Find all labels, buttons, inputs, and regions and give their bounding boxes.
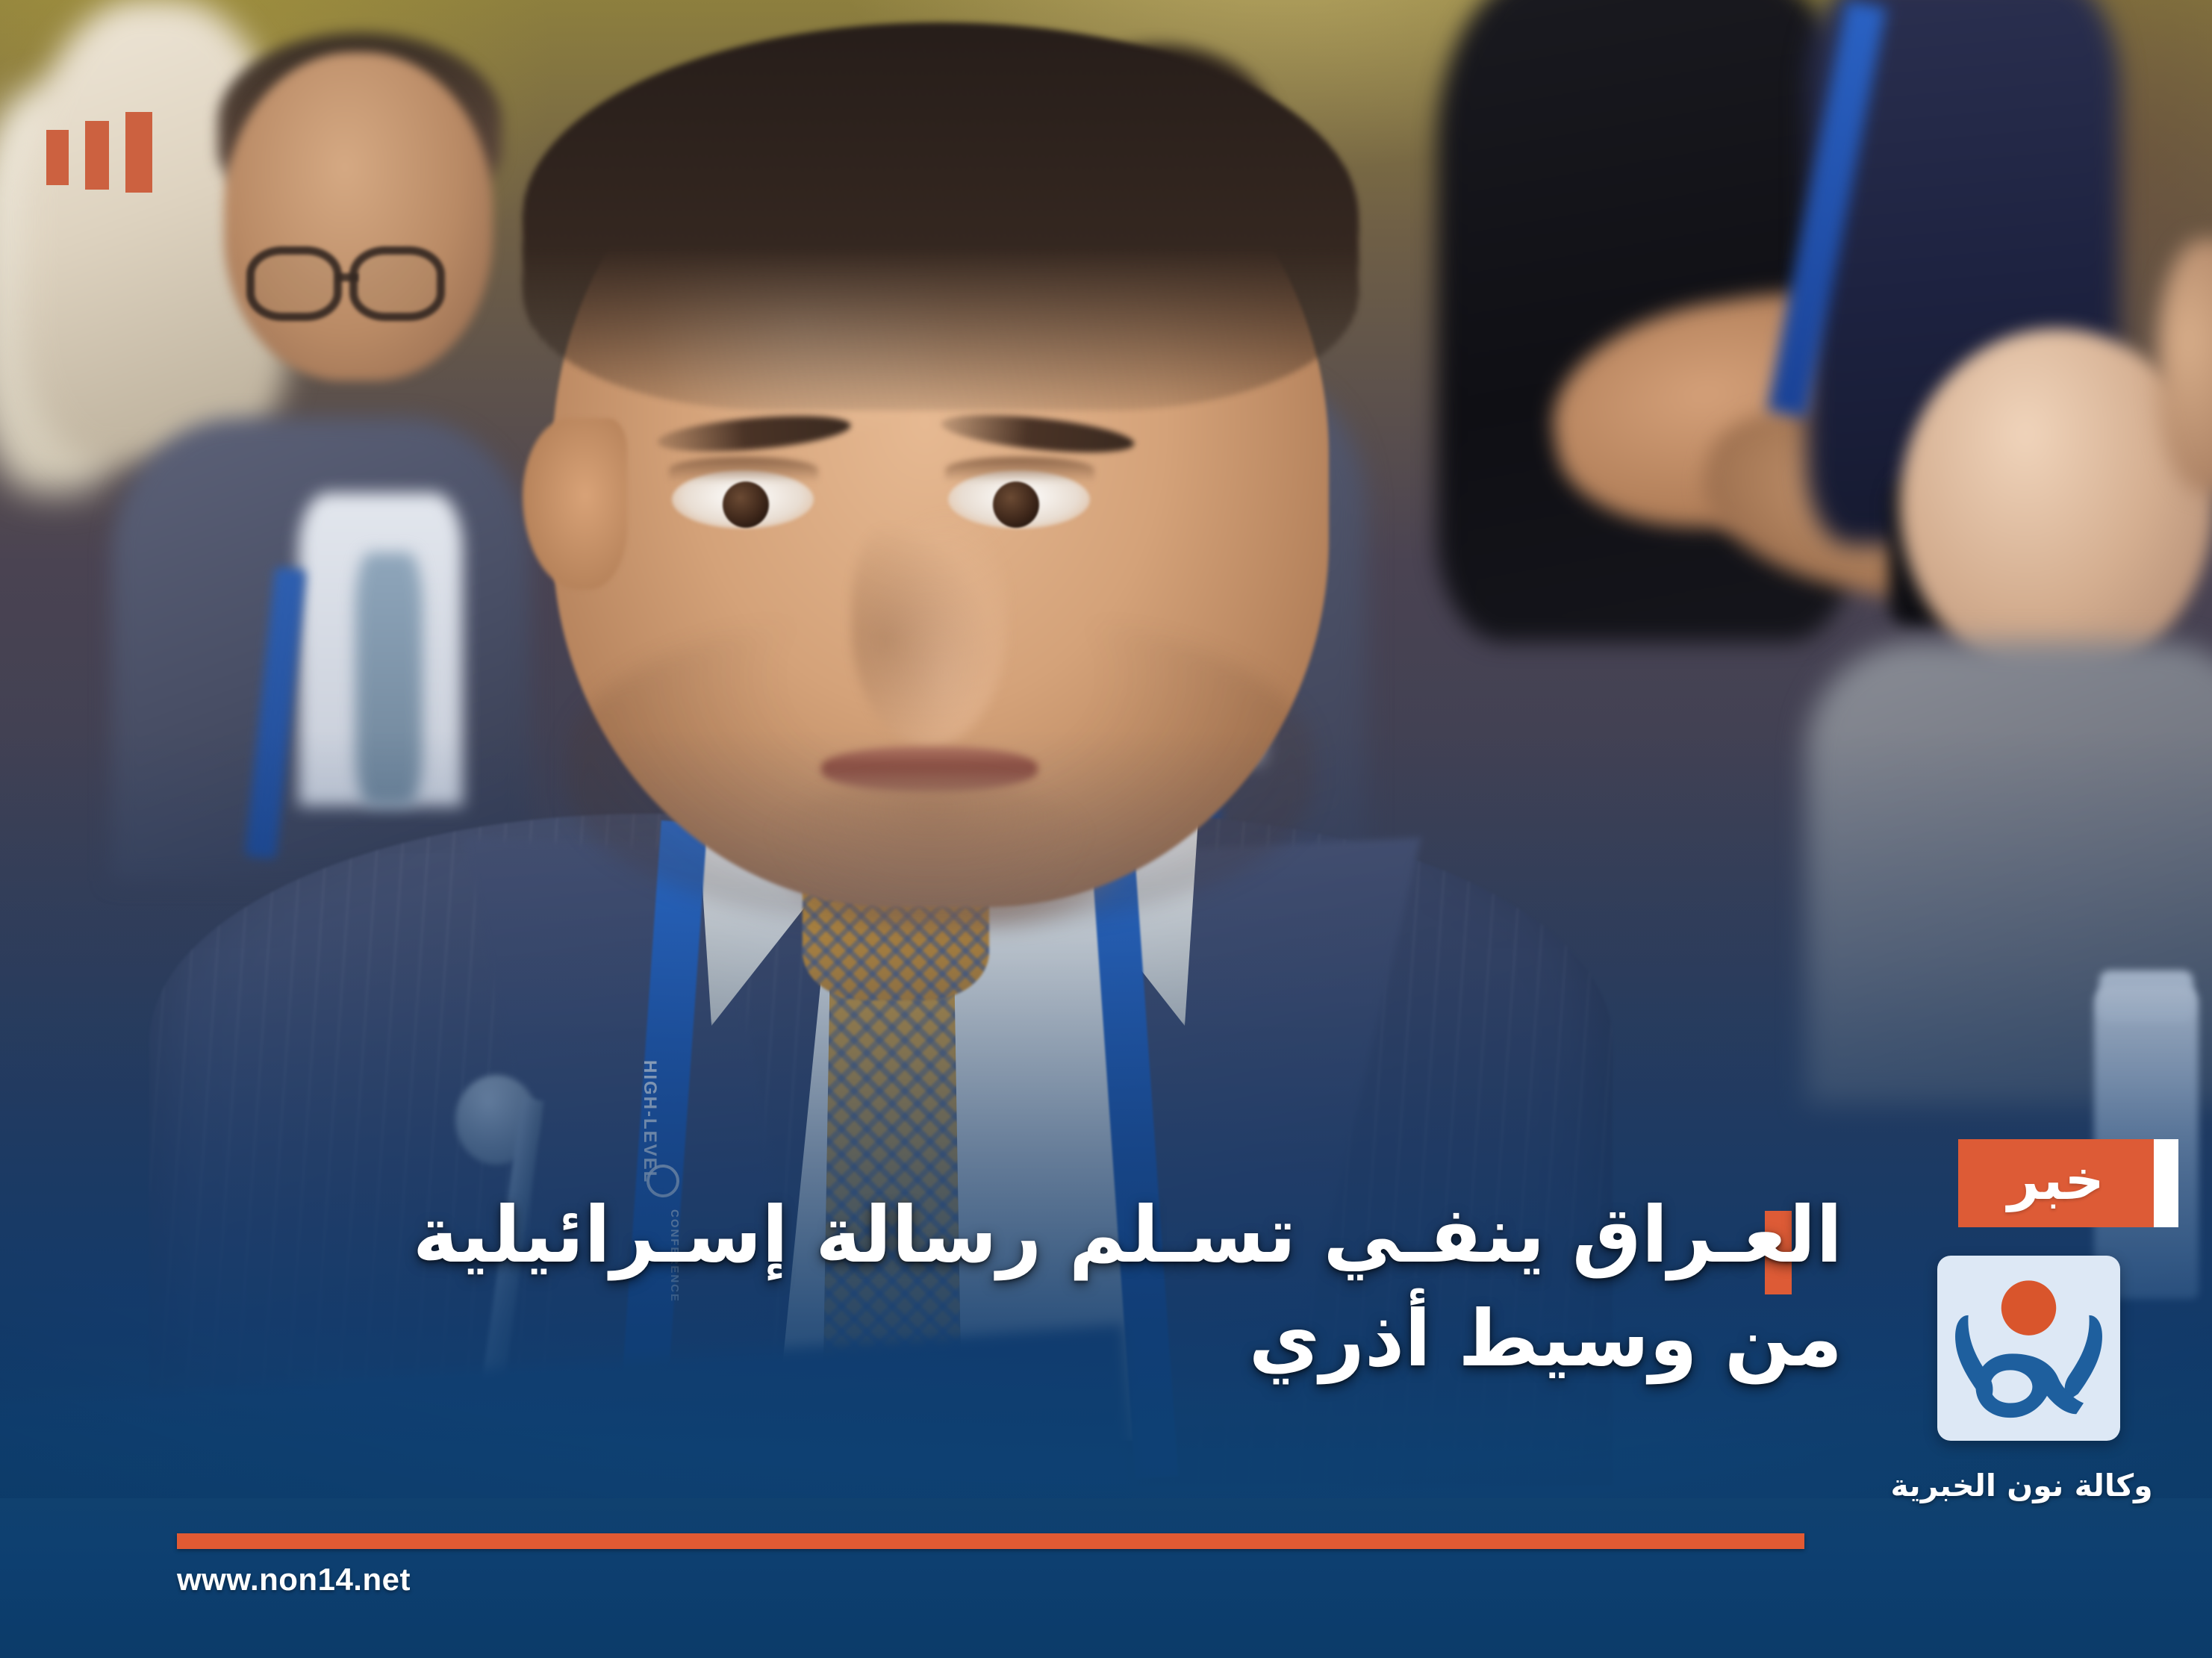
footer-divider xyxy=(177,1533,1804,1549)
website-url: www.non14.net xyxy=(177,1562,411,1598)
news-badge: خبر xyxy=(1958,1139,2178,1227)
corner-bars-decoration xyxy=(46,112,152,193)
agency-name: وكالة نون الخبرية xyxy=(1872,1468,2171,1504)
corner-bar-1 xyxy=(125,112,152,193)
agency-logo-icon xyxy=(1937,1256,2120,1441)
corner-bar-2 xyxy=(85,121,109,190)
vignette-overlay xyxy=(0,0,2212,1658)
news-graphic-card: HIGH-LEVEL CONFERENCE العـراق ينفـي تسـل… xyxy=(0,0,2212,1658)
headline-line-2: من وسيط أذري xyxy=(387,1287,1842,1391)
news-badge-label: خبر xyxy=(1958,1139,2154,1227)
corner-bar-3 xyxy=(46,130,69,185)
headline: العـراق ينفـي تسـلم رسالة إسـرائيلية من … xyxy=(387,1183,1842,1391)
news-badge-tab xyxy=(2154,1139,2178,1227)
headline-line-1: العـراق ينفـي تسـلم رسالة إسـرائيلية xyxy=(387,1183,1842,1287)
